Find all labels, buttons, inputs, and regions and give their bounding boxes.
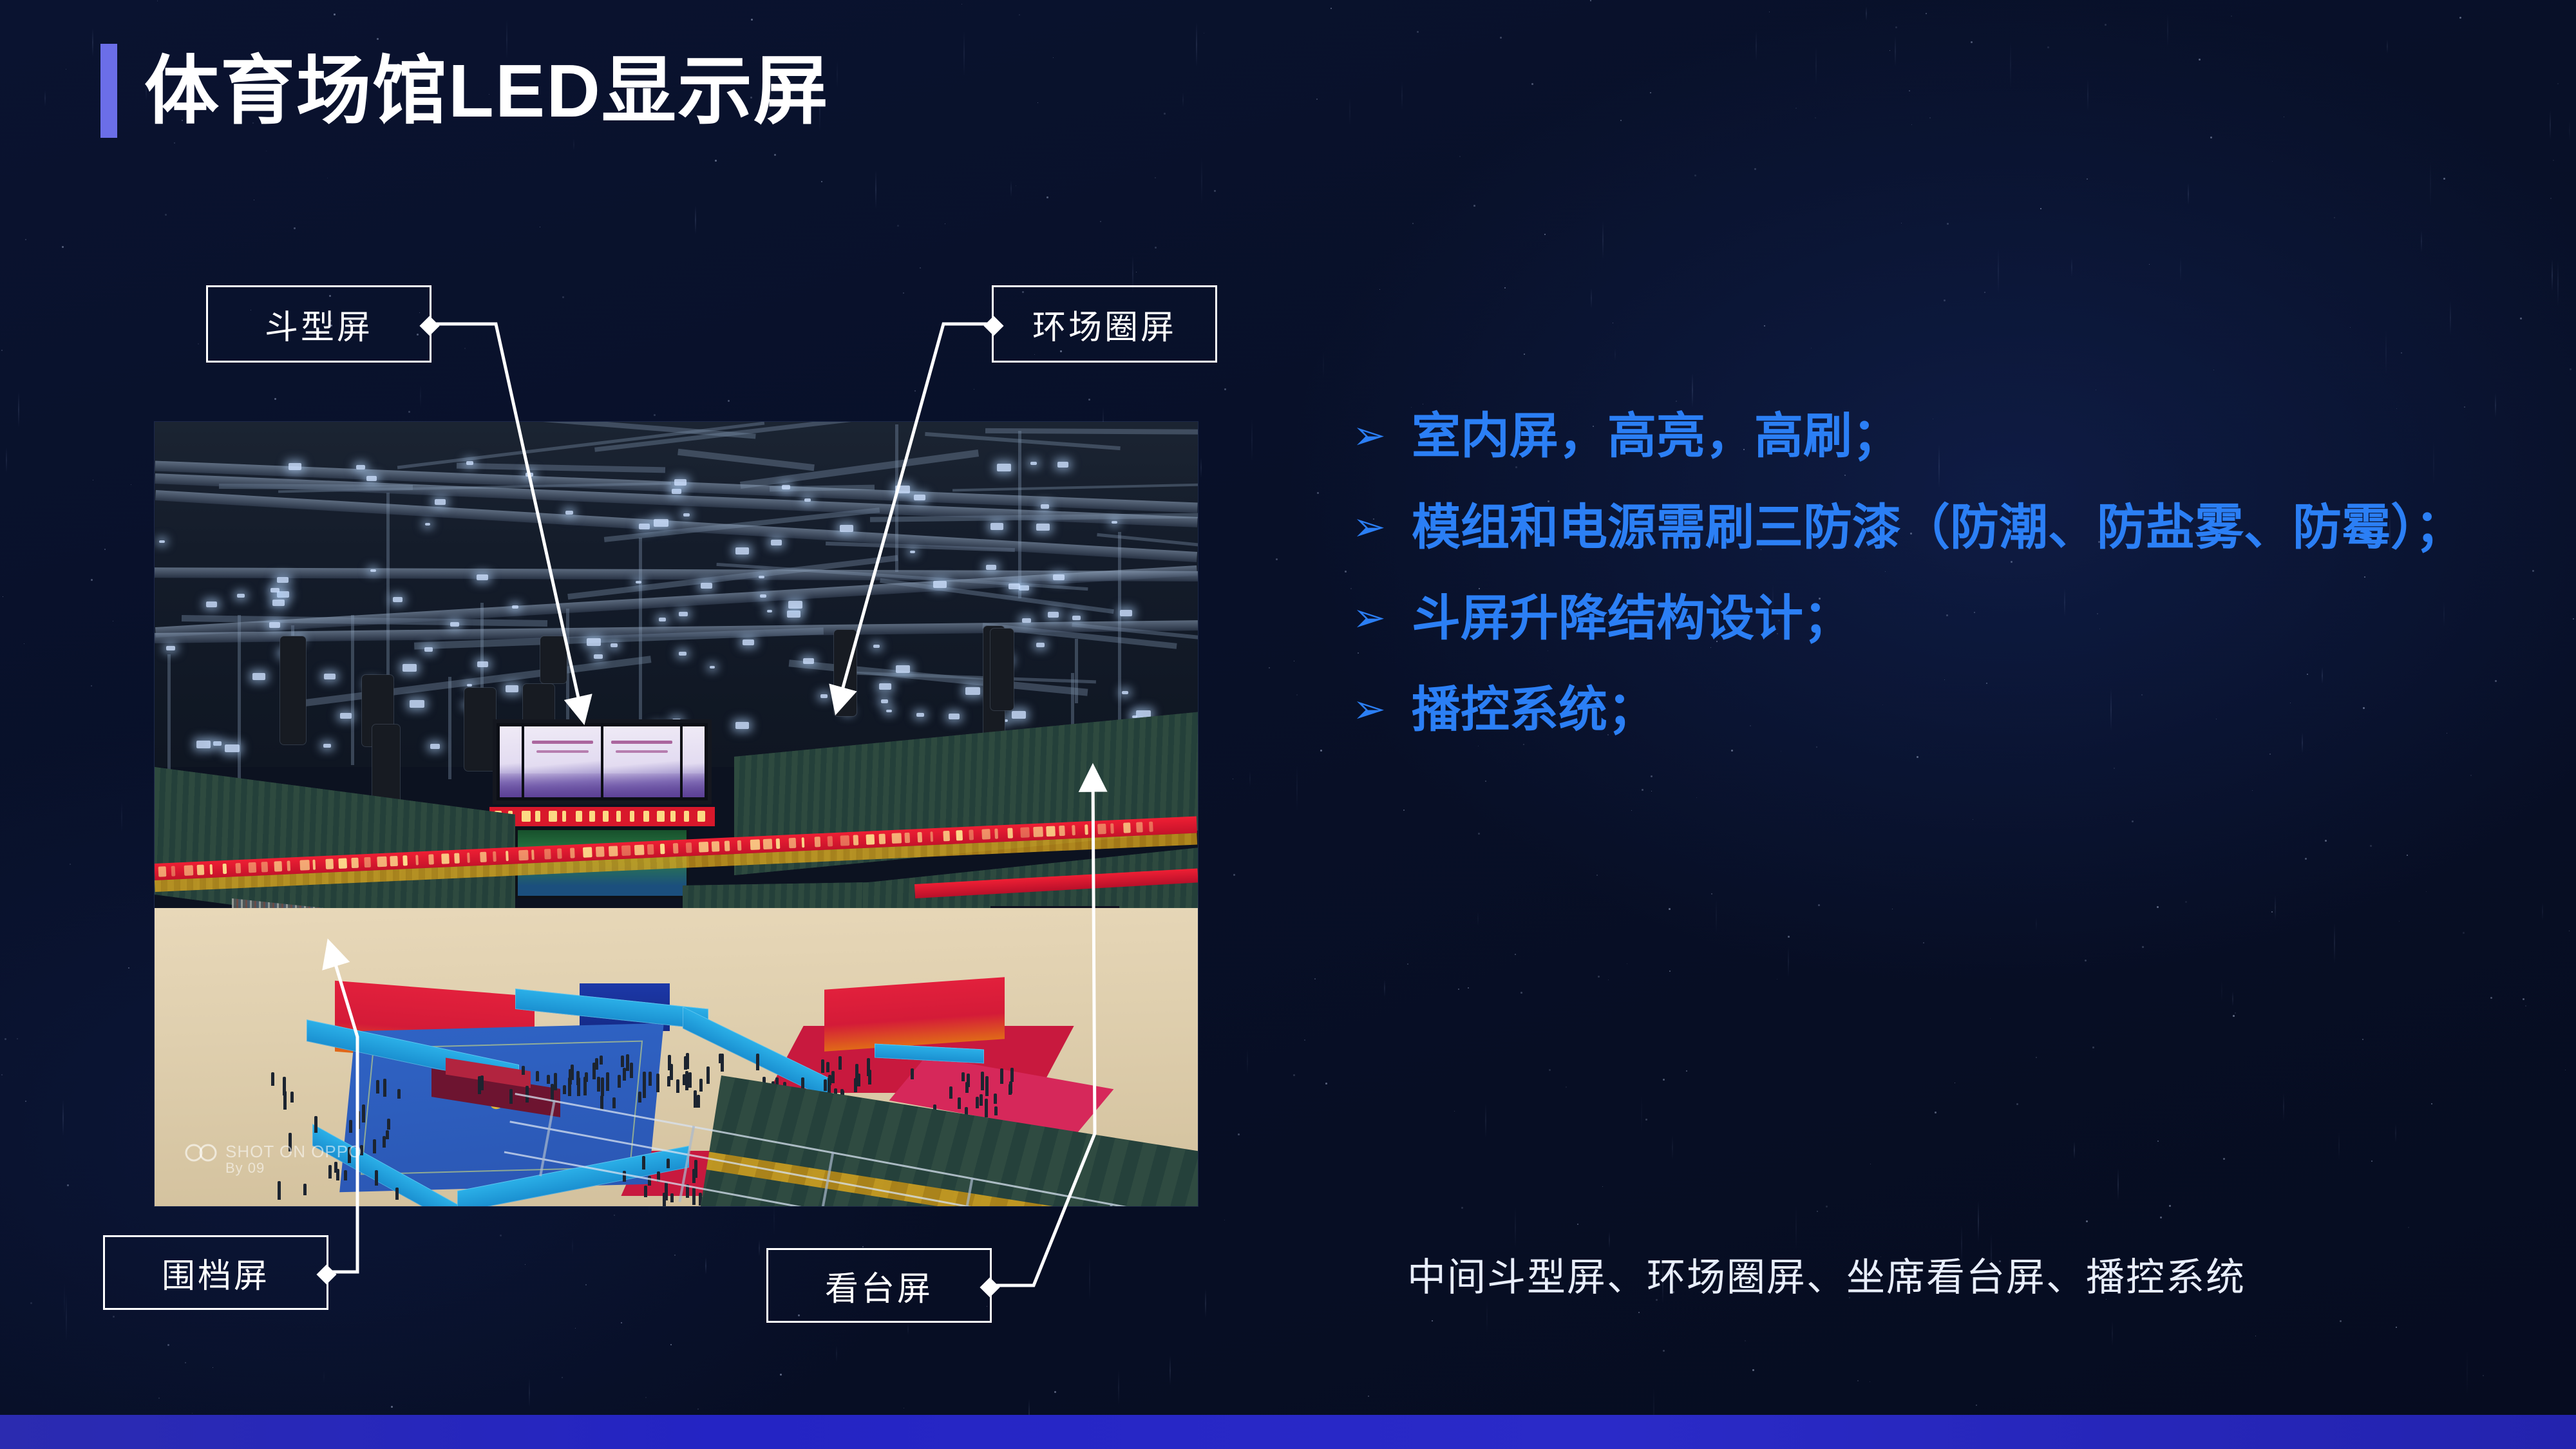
callout-wei-dang-ping[interactable]: 围档屏 <box>103 1235 328 1310</box>
watermark-subtext: By 09 <box>225 1160 362 1177</box>
bullet-text: 斗屏升降结构设计； <box>1412 582 2512 656</box>
title-accent-bar <box>100 44 117 138</box>
bullet-text: 室内屏，高亮，高刷； <box>1412 399 2512 474</box>
jumbotron-text-line <box>532 741 593 744</box>
bullet-arrow-icon: ➢ <box>1352 399 1392 473</box>
callout-label: 斗型屏 <box>265 300 373 348</box>
jumbotron-ribbon-board <box>489 807 715 826</box>
page-title: 体育场馆LED显示屏 <box>144 53 829 128</box>
jumbotron-panel-main <box>603 726 680 797</box>
bullet-arrow-icon: ➢ <box>1352 582 1392 656</box>
photo-caption: 中间斗型屏、环场圈屏、坐席看台屏、播控系统 <box>1407 1246 2246 1302</box>
arena-photo: SHOT ON OPPO By 09 <box>155 422 1198 1206</box>
callout-dou-xing-ping[interactable]: 斗型屏 <box>206 285 431 363</box>
slide-header: 体育场馆LED显示屏 <box>100 44 829 138</box>
photo-watermark: SHOT ON OPPO By 09 <box>184 1142 362 1177</box>
backdrop-banner-right <box>824 977 1005 1052</box>
bullet-item: ➢ 室内屏，高亮，高刷； <box>1352 399 2512 474</box>
jumbotron-text-line <box>536 750 589 753</box>
callout-kan-tai-ping[interactable]: 看台屏 <box>766 1248 992 1323</box>
jumbotron-panel-main <box>524 726 601 797</box>
callout-label: 环场圈屏 <box>1032 300 1177 348</box>
bullet-text: 模组和电源需刷三防漆（防潮、防盐雾、防霉）； <box>1412 491 2512 565</box>
jumbotron-panel-side <box>683 726 705 797</box>
jumbotron-panel-side <box>500 726 522 797</box>
bullet-item: ➢ 播控系统； <box>1352 673 2512 748</box>
bullet-text: 播控系统； <box>1412 673 2512 748</box>
oppo-logo-icon <box>184 1143 219 1162</box>
feature-bullet-list: ➢ 室内屏，高亮，高刷； ➢ 模组和电源需刷三防漆（防潮、防盐雾、防霉）； ➢ … <box>1352 399 2512 764</box>
jumbotron-text-line <box>616 750 668 753</box>
callout-label: 看台屏 <box>825 1262 933 1310</box>
bullet-item: ➢ 斗屏升降结构设计； <box>1352 582 2512 656</box>
jumbotron-text-line <box>611 741 672 744</box>
callout-label: 围档屏 <box>162 1249 270 1297</box>
bullet-item: ➢ 模组和电源需刷三防漆（防潮、防盐雾、防霉）； <box>1352 491 2512 565</box>
bullet-arrow-icon: ➢ <box>1352 673 1392 747</box>
center-hung-scoreboard <box>493 719 712 804</box>
slide-bottom-bar <box>0 1415 2576 1449</box>
callout-huan-chang-quan-ping[interactable]: 环场圈屏 <box>992 285 1217 363</box>
bullet-arrow-icon: ➢ <box>1352 491 1392 565</box>
watermark-text: SHOT ON OPPO <box>225 1142 362 1161</box>
